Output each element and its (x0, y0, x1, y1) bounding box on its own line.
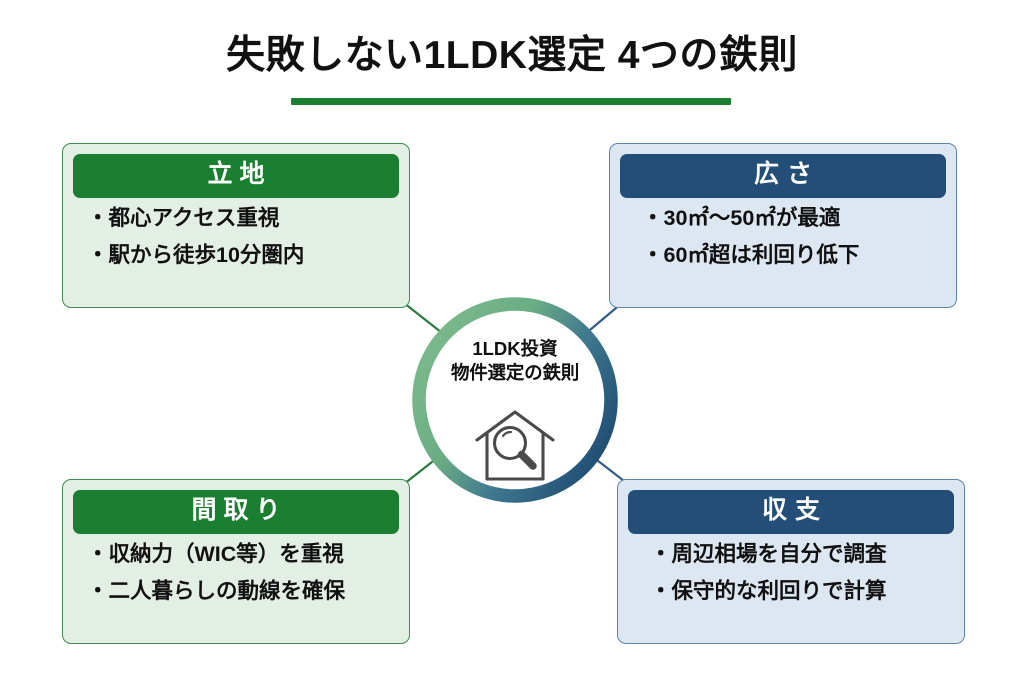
card-location[interactable]: 立地 ・都心アクセス重視 ・駅から徒歩10分圏内 (62, 143, 410, 308)
card-budget-header: 収支 (628, 490, 954, 534)
card-size-bullet-2: ・60㎡超は利回り低下 (642, 244, 942, 268)
card-layout-body: ・収納力（WIC等）を重視 ・二人暮らしの動線を確保 (73, 534, 399, 604)
center-hub: 1LDK投資 物件選定の鉄則 (412, 297, 618, 503)
card-size-bullet-1: ・30㎡〜50㎡が最適 (642, 207, 942, 231)
card-location-bullet-2: ・駅から徒歩10分圏内 (87, 244, 395, 268)
card-layout-bullet-1: ・収納力（WIC等）を重視 (87, 543, 395, 567)
hub-label-line-2: 物件選定の鉄則 (412, 361, 618, 385)
card-budget-bullet-2: ・保守的な利回りで計算 (650, 580, 950, 604)
hub-label-line-1: 1LDK投資 (412, 337, 618, 361)
card-size-body: ・30㎡〜50㎡が最適 ・60㎡超は利回り低下 (620, 198, 946, 268)
card-layout[interactable]: 間取り ・収納力（WIC等）を重視 ・二人暮らしの動線を確保 (62, 479, 410, 644)
card-budget[interactable]: 収支 ・周辺相場を自分で調査 ・保守的な利回りで計算 (617, 479, 965, 644)
card-size[interactable]: 広さ ・30㎡〜50㎡が最適 ・60㎡超は利回り低下 (609, 143, 957, 308)
card-location-body: ・都心アクセス重視 ・駅から徒歩10分圏内 (73, 198, 399, 268)
card-layout-header: 間取り (73, 490, 399, 534)
card-budget-bullet-1: ・周辺相場を自分で調査 (650, 543, 950, 567)
infographic-canvas: 失敗しない1LDK選定 4つの鉄則 立地 ・都心アクセス重視 ・駅から徒歩10分… (0, 0, 1024, 683)
hub-label: 1LDK投資 物件選定の鉄則 (412, 337, 618, 386)
card-budget-body: ・周辺相場を自分で調査 ・保守的な利回りで計算 (628, 534, 954, 604)
card-layout-bullet-2: ・二人暮らしの動線を確保 (87, 580, 395, 604)
card-size-header: 広さ (620, 154, 946, 198)
card-location-bullet-1: ・都心アクセス重視 (87, 207, 395, 231)
house-magnifier-icon (473, 409, 557, 483)
card-location-header: 立地 (73, 154, 399, 198)
